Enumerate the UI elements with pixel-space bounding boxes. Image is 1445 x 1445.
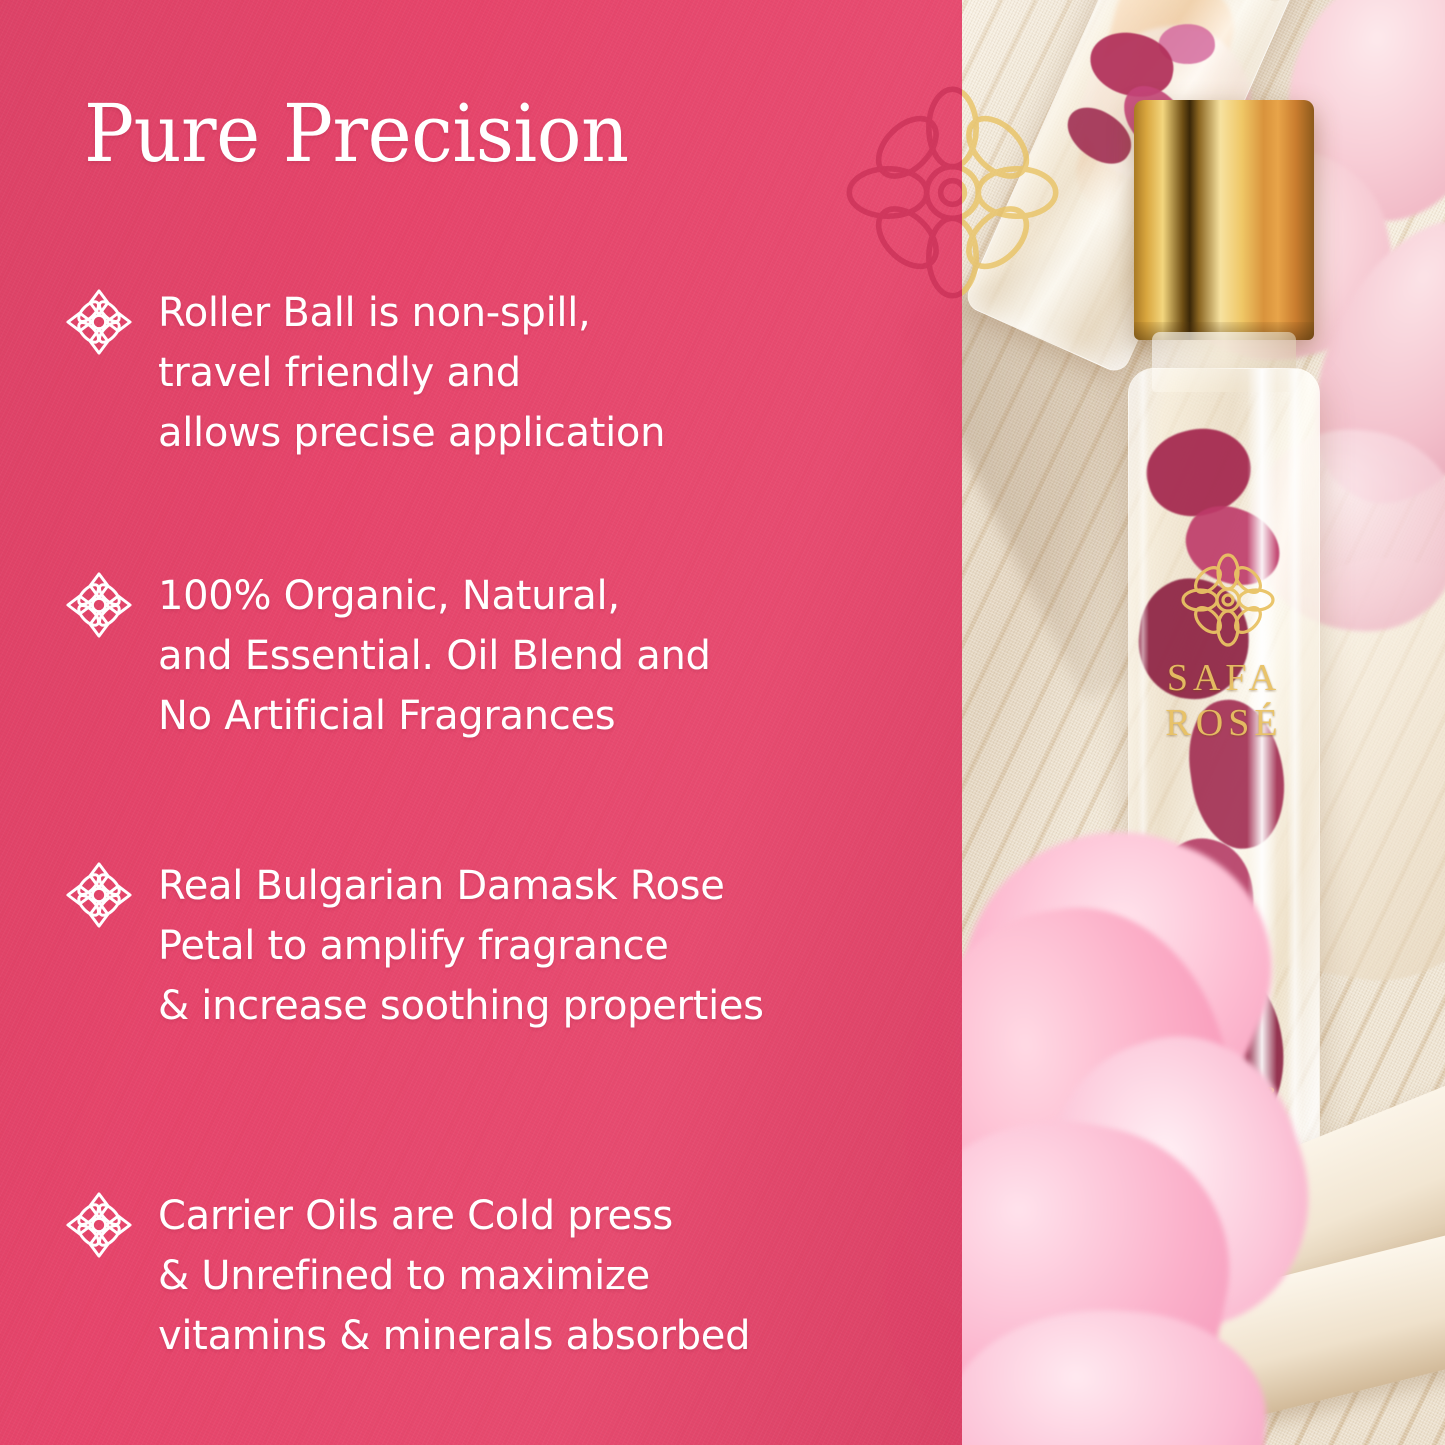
page-title: Pure Precision xyxy=(84,88,629,180)
floral-rosette-icon xyxy=(62,285,136,359)
floral-rosette-icon xyxy=(62,568,136,642)
product-feature-banner: SAFA ROSÉ Perfume Oil 10 ml / 0.33 fl oz xyxy=(0,0,1445,1445)
list-item-label: 100% Organic, Natural, and Essential. Oi… xyxy=(158,566,711,746)
floral-rosette-icon xyxy=(62,1188,136,1262)
floral-rosette-icon xyxy=(62,858,136,932)
list-item: Carrier Oils are Cold press & Unrefined … xyxy=(62,1186,750,1366)
list-item: Roller Ball is non-spill, travel friendl… xyxy=(62,283,665,463)
list-item: 100% Organic, Natural, and Essential. Oi… xyxy=(62,566,711,746)
list-item: Real Bulgarian Damask Rose Petal to ampl… xyxy=(62,856,764,1036)
list-item-label: Real Bulgarian Damask Rose Petal to ampl… xyxy=(158,856,764,1036)
list-item-label: Carrier Oils are Cold press & Unrefined … xyxy=(158,1186,750,1366)
list-item-label: Roller Ball is non-spill, travel friendl… xyxy=(158,283,665,463)
marketing-copy: Pure Precision Roller xyxy=(0,0,1445,1445)
